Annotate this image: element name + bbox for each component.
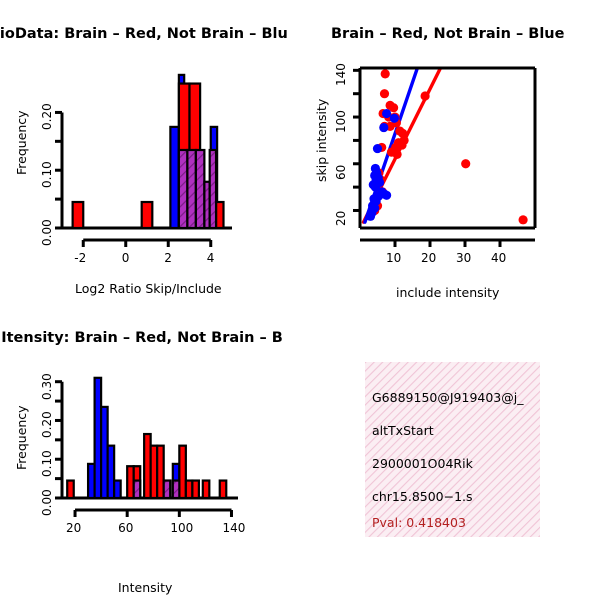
axis-tick-label: 20: [66, 521, 81, 535]
annotation-box: [365, 362, 540, 537]
axis-tick-label: 0.30: [40, 373, 54, 400]
ratio-histogram-xlabel: Log2 Ratio Skip/Include: [75, 281, 222, 296]
axis-tick-label: 60: [334, 164, 348, 179]
annotation-pvalue: Pval: 0.418403: [372, 515, 466, 530]
ratio-histogram-ylabel: Frequency: [14, 110, 29, 175]
axis-tick-label: 10: [386, 251, 401, 265]
intensity-histogram-xlabel: Intensity: [118, 580, 172, 595]
axis-tick-label: 140: [222, 521, 245, 535]
panel-ratio-histogram: RatioData: Brain – Red, Not Brain – Blu …: [0, 0, 300, 310]
axis-tick-label: 0: [122, 251, 130, 265]
axis-tick-label: 0.00: [40, 219, 54, 246]
axis-tick-label: 0.00: [40, 489, 54, 516]
axis-tick-label: 0.20: [40, 104, 54, 131]
annotation-line-locus: chr15.8500−1.s: [372, 489, 473, 504]
panel-annotation: G6889150@J919403@j_ altTxStart 2900001O0…: [300, 310, 600, 600]
panel-intensity-scatter: Brain – Red, Not Brain – Blue skip inten…: [300, 0, 600, 310]
axis-tick-label: 30: [456, 251, 471, 265]
axis-tick-label: 0.10: [40, 451, 54, 478]
annotation-hatch-background: [365, 362, 540, 537]
intensity-histogram-ylabel: Frequency: [14, 405, 29, 470]
ratio-histogram-canvas: [0, 0, 300, 310]
scatter-canvas: [300, 0, 600, 310]
axis-tick-label: 0.20: [40, 412, 54, 439]
annotation-line-gene-symbol: 2900001O04Rik: [372, 456, 473, 471]
axis-tick-label: -2: [74, 251, 86, 265]
axis-tick-label: 60: [118, 521, 133, 535]
scatter-xlabel: include intensity: [396, 285, 499, 300]
axis-tick-label: 2: [164, 251, 172, 265]
annotation-line-id: G6889150@J919403@j_: [372, 390, 523, 405]
axis-tick-label: 100: [170, 521, 193, 535]
axis-tick-label: 0.10: [40, 162, 54, 189]
axis-tick-label: 100: [334, 110, 348, 133]
panel-intensity-histogram: ne Itensity: Brain – Red, Not Brain – B …: [0, 310, 300, 600]
axis-tick-label: 20: [334, 211, 348, 226]
scatter-ylabel: skip intensity: [314, 99, 329, 182]
annotation-line-event-type: altTxStart: [372, 423, 434, 438]
axis-tick-label: 4: [207, 251, 215, 265]
axis-tick-label: 20: [421, 251, 436, 265]
axis-tick-label: 40: [491, 251, 506, 265]
axis-tick-label: 140: [334, 63, 348, 86]
